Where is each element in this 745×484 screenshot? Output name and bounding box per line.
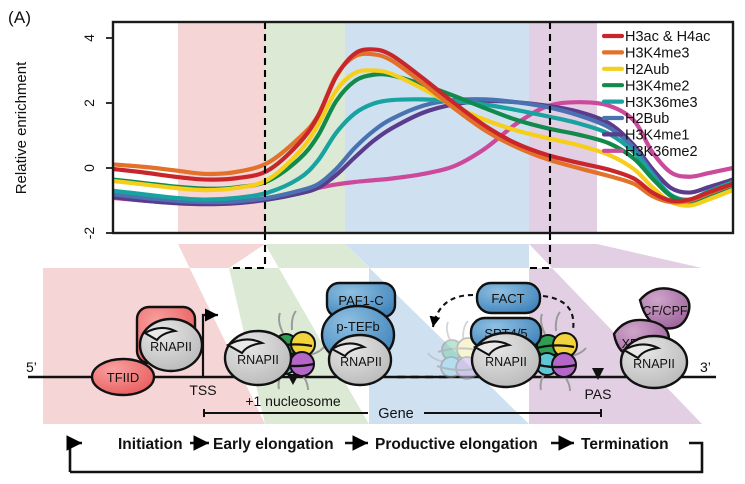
complex-ptefb-label: p-TEFb [336, 319, 379, 334]
complex-rnapii-early-label: RNAPII [237, 353, 279, 367]
stage-termination: Termination [581, 436, 669, 453]
legend-label-0: H3ac & H4ac [625, 29, 710, 45]
label-five-prime: 5’ [26, 359, 37, 375]
legend-label-3: H3K4me2 [625, 78, 689, 94]
label-tss: TSS [189, 382, 216, 398]
legend-label-5: H2Bub [625, 111, 669, 127]
stage-cycle-bar: Initiation Early elongation Productive e… [70, 436, 702, 472]
complex-rnapii-paused: RNAPII [329, 335, 391, 385]
stage-productive-elongation: Productive elongation [375, 436, 538, 453]
complex-cfcpf-label: CF/CPF [642, 304, 688, 318]
figure-panel-a: (A) [0, 0, 745, 484]
legend-label-1: H3K4me3 [625, 46, 689, 62]
complex-fact-label: FACT [491, 291, 524, 306]
y-tick-4: 4 [81, 34, 97, 42]
enrichment-chart: Relative enrichment 4 2 0 -2 [13, 22, 733, 239]
complex-rnapii-termination: RNAPII [621, 336, 687, 388]
complex-rnapii-termination-label: RNAPII [633, 357, 675, 371]
y-tick-0: 0 [81, 164, 97, 172]
legend-label-7: H3K36me2 [625, 144, 698, 160]
label-plus-one-nucleosome: +1 nucleosome [245, 393, 341, 409]
stage-early-elongation: Early elongation [213, 436, 334, 453]
figure-canvas: Relative enrichment 4 2 0 -2 [0, 0, 745, 484]
y-axis-tick-labels: 4 2 0 -2 [81, 34, 97, 239]
complex-fact: FACT [477, 283, 540, 313]
complex-rnapii-initiation: RNAPII [140, 319, 202, 371]
legend-label-2: H2Aub [625, 62, 669, 78]
y-tick-minus2: -2 [81, 227, 97, 240]
complex-rnapii-early: RNAPII [225, 331, 291, 385]
complex-rnapii-productive: RNAPII [472, 333, 540, 387]
label-three-prime: 3’ [700, 359, 711, 375]
y-axis-label: Relative enrichment [13, 61, 30, 194]
complex-tfiid: TFIID [92, 359, 154, 395]
complex-tfiid-label: TFIID [107, 370, 140, 385]
complex-rnapii-initiation-label: RNAPII [150, 340, 192, 354]
chart-band-early-elongation [265, 22, 345, 233]
complex-rnapii-paused-label: RNAPII [340, 355, 382, 369]
label-pas: PAS [585, 386, 612, 402]
y-tick-2: 2 [81, 99, 97, 107]
legend-label-4: H3K36me3 [625, 95, 698, 111]
complex-rnapii-productive-label: RNAPII [485, 355, 527, 369]
label-gene: Gene [378, 406, 413, 422]
stage-initiation: Initiation [118, 436, 183, 453]
legend-label-6: H3K4me1 [625, 128, 689, 144]
panel-label: (A) [8, 8, 31, 28]
